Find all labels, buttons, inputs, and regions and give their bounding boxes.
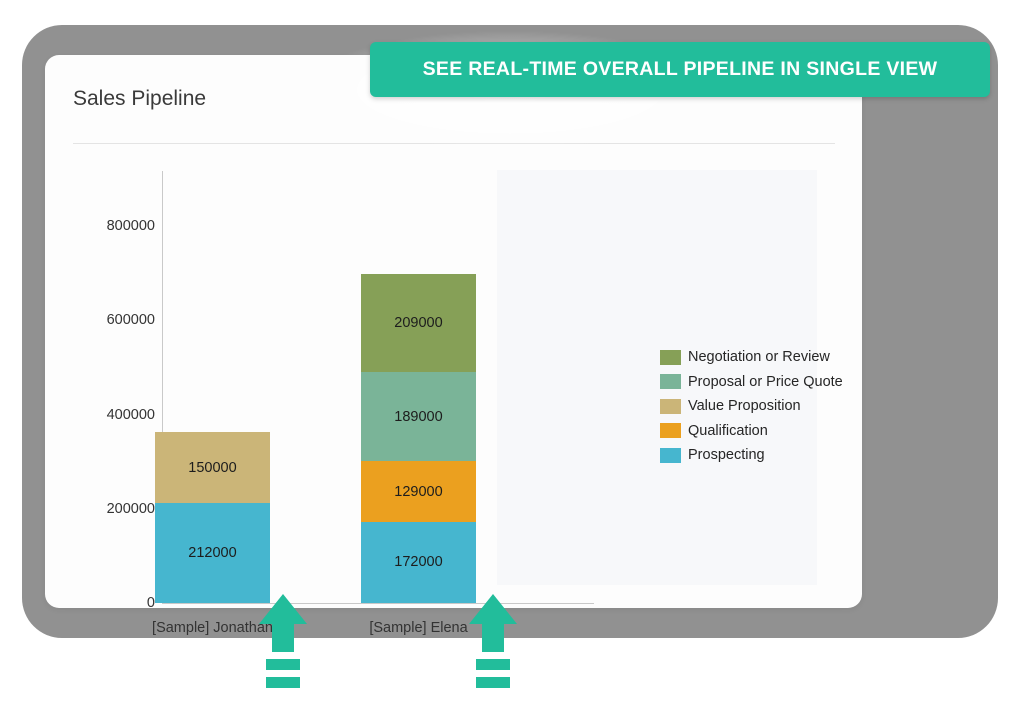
page-title: Sales Pipeline [73, 87, 206, 111]
legend-swatch-icon [660, 448, 681, 463]
legend-label: Qualification [688, 423, 768, 439]
arrow-motion-dash [266, 659, 300, 670]
x-axis-label: [Sample] Elena [369, 620, 467, 636]
chart-legend: Negotiation or ReviewProposal or Price Q… [660, 345, 843, 468]
arrow-motion-dash [476, 677, 510, 688]
bar-value-label: 172000 [394, 554, 442, 570]
title-divider [73, 143, 835, 144]
bar-segment[interactable]: 150000 [155, 432, 270, 503]
legend-label: Value Proposition [688, 398, 801, 414]
chart-plot-area: 0200000400000600000800000 15000021200020… [45, 150, 862, 610]
bar-value-label: 150000 [188, 460, 236, 476]
arrow-stem [482, 624, 504, 652]
y-axis-tick-label: 0 [83, 595, 155, 611]
bar-value-label: 209000 [394, 315, 442, 331]
screenshot-root: Sales Pipeline 0200000400000600000800000… [0, 0, 1024, 727]
bar-segment[interactable]: 172000 [361, 522, 476, 603]
stacked-bar[interactable]: 209000189000129000172000 [361, 274, 476, 603]
x-axis-line [162, 603, 594, 604]
legend-item[interactable]: Value Proposition [660, 394, 843, 419]
arrow-head [469, 594, 517, 624]
legend-label: Proposal or Price Quote [688, 374, 843, 390]
y-axis-tick-label: 600000 [83, 312, 155, 328]
legend-item[interactable]: Negotiation or Review [660, 345, 843, 370]
legend-label: Negotiation or Review [688, 349, 830, 365]
bar-value-label: 212000 [188, 545, 236, 561]
y-axis-ticks: 0200000400000600000800000 [73, 150, 155, 610]
bar-segment[interactable]: 212000 [155, 503, 270, 603]
legend-item[interactable]: Proposal or Price Quote [660, 370, 843, 395]
legend-item[interactable]: Prospecting [660, 443, 843, 468]
bar-value-label: 189000 [394, 409, 442, 425]
arrow-head [259, 594, 307, 624]
x-axis-label: [Sample] Jonathan [152, 620, 273, 636]
y-axis-tick-label: 200000 [83, 501, 155, 517]
bar-segment[interactable]: 189000 [361, 372, 476, 461]
stacked-bar[interactable]: 150000212000 [155, 432, 270, 603]
arrow-motion-dash [266, 677, 300, 688]
legend-item[interactable]: Qualification [660, 419, 843, 444]
arrow-stem [272, 624, 294, 652]
promo-banner[interactable]: SEE REAL-TIME OVERALL PIPELINE IN SINGLE… [370, 42, 990, 97]
promo-banner-text: SEE REAL-TIME OVERALL PIPELINE IN SINGLE… [423, 58, 938, 81]
y-axis-tick-label: 400000 [83, 407, 155, 423]
upward-arrow-icon [259, 594, 307, 688]
legend-label: Prospecting [688, 447, 765, 463]
legend-swatch-icon [660, 423, 681, 438]
bar-value-label: 129000 [394, 484, 442, 500]
bar-segment[interactable]: 129000 [361, 461, 476, 522]
upward-arrow-icon [469, 594, 517, 688]
sales-pipeline-card: Sales Pipeline 0200000400000600000800000… [45, 55, 862, 608]
legend-swatch-icon [660, 374, 681, 389]
y-axis-tick-label: 800000 [83, 218, 155, 234]
bar-segment[interactable]: 209000 [361, 274, 476, 372]
legend-swatch-icon [660, 350, 681, 365]
arrow-motion-dash [476, 659, 510, 670]
legend-swatch-icon [660, 399, 681, 414]
